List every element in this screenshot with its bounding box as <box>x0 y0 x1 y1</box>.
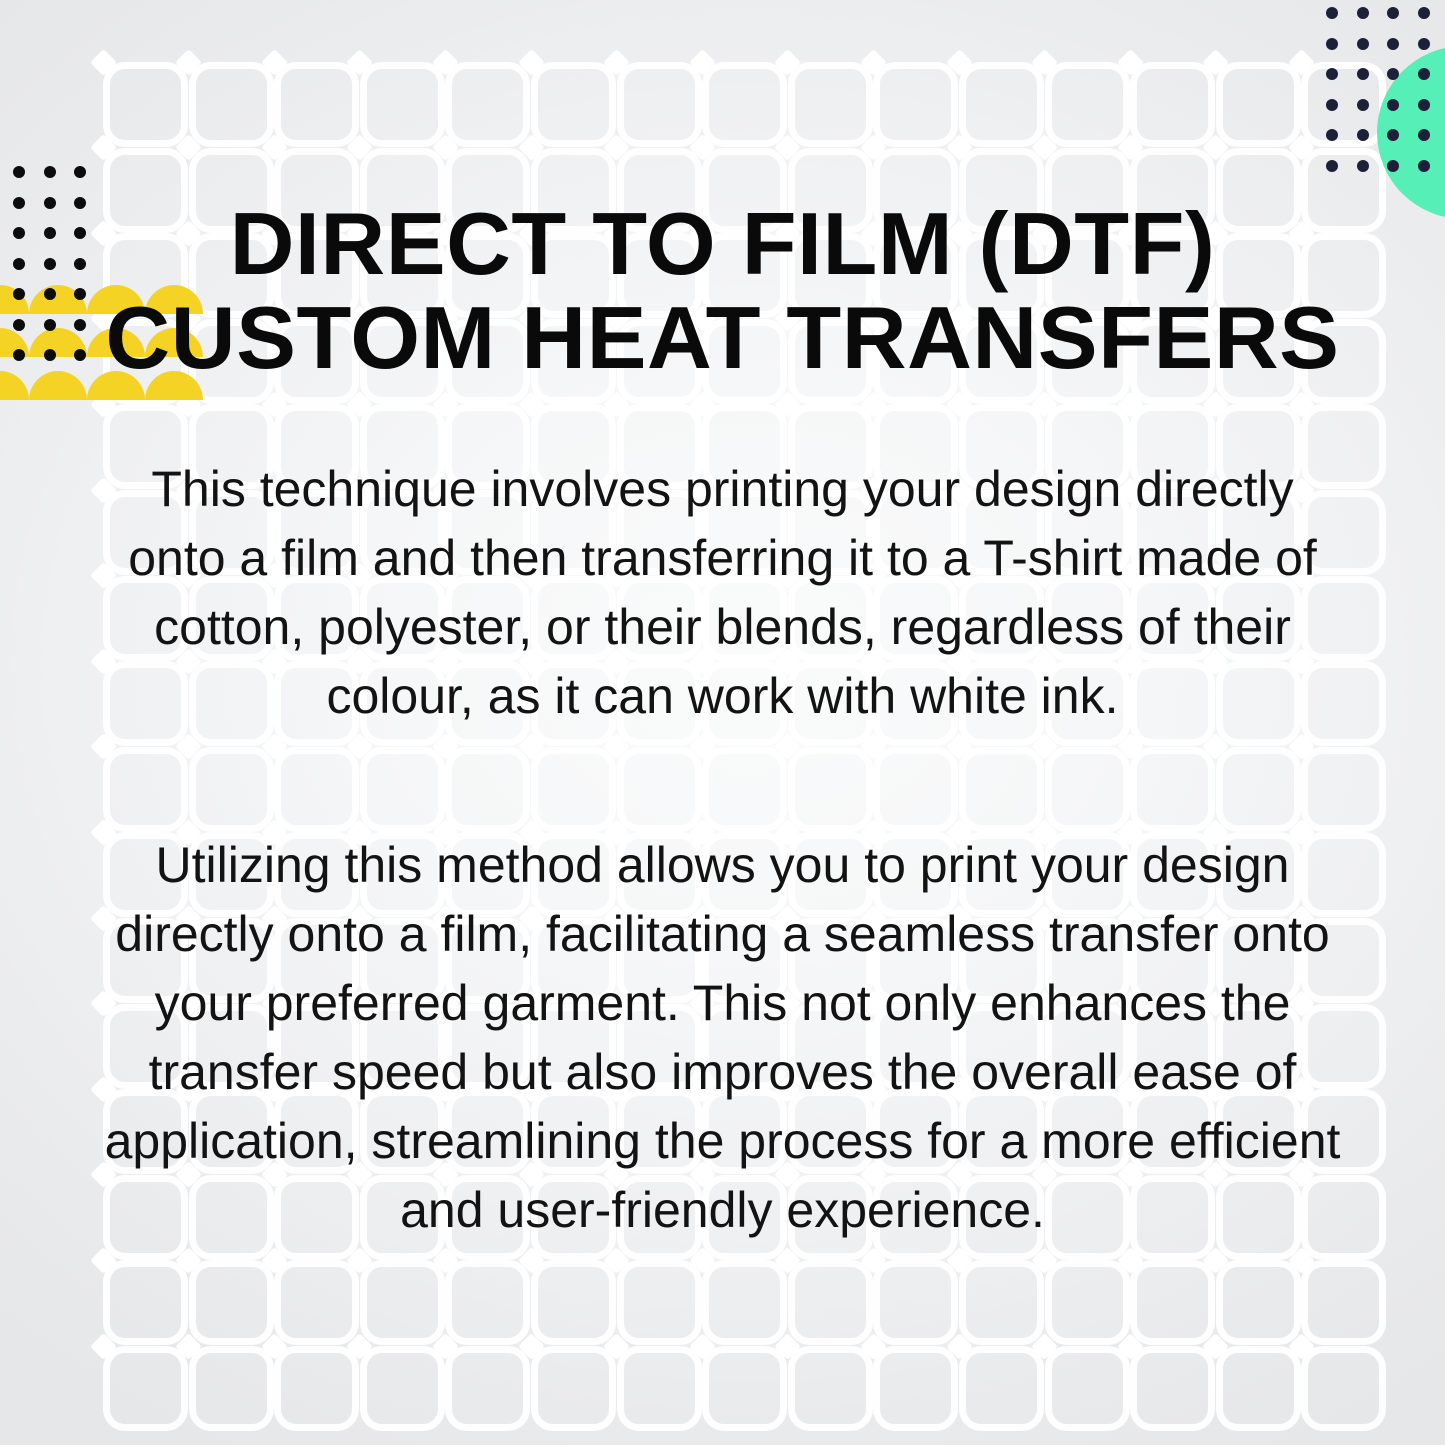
page-title: DIRECT TO FILM (DTF) CUSTOM HEAT TRANSFE… <box>0 197 1445 385</box>
body-copy: This technique involves printing your de… <box>96 455 1349 1245</box>
paragraph-2: Utilizing this method allows you to prin… <box>96 831 1349 1245</box>
paragraph-1: This technique involves printing your de… <box>96 455 1349 731</box>
poster-content: DIRECT TO FILM (DTF) CUSTOM HEAT TRANSFE… <box>0 0 1445 1445</box>
title-line-2: CUSTOM HEAT TRANSFERS <box>0 291 1445 385</box>
title-line-1: DIRECT TO FILM (DTF) <box>0 197 1445 291</box>
poster-canvas: DIRECT TO FILM (DTF) CUSTOM HEAT TRANSFE… <box>0 0 1445 1445</box>
